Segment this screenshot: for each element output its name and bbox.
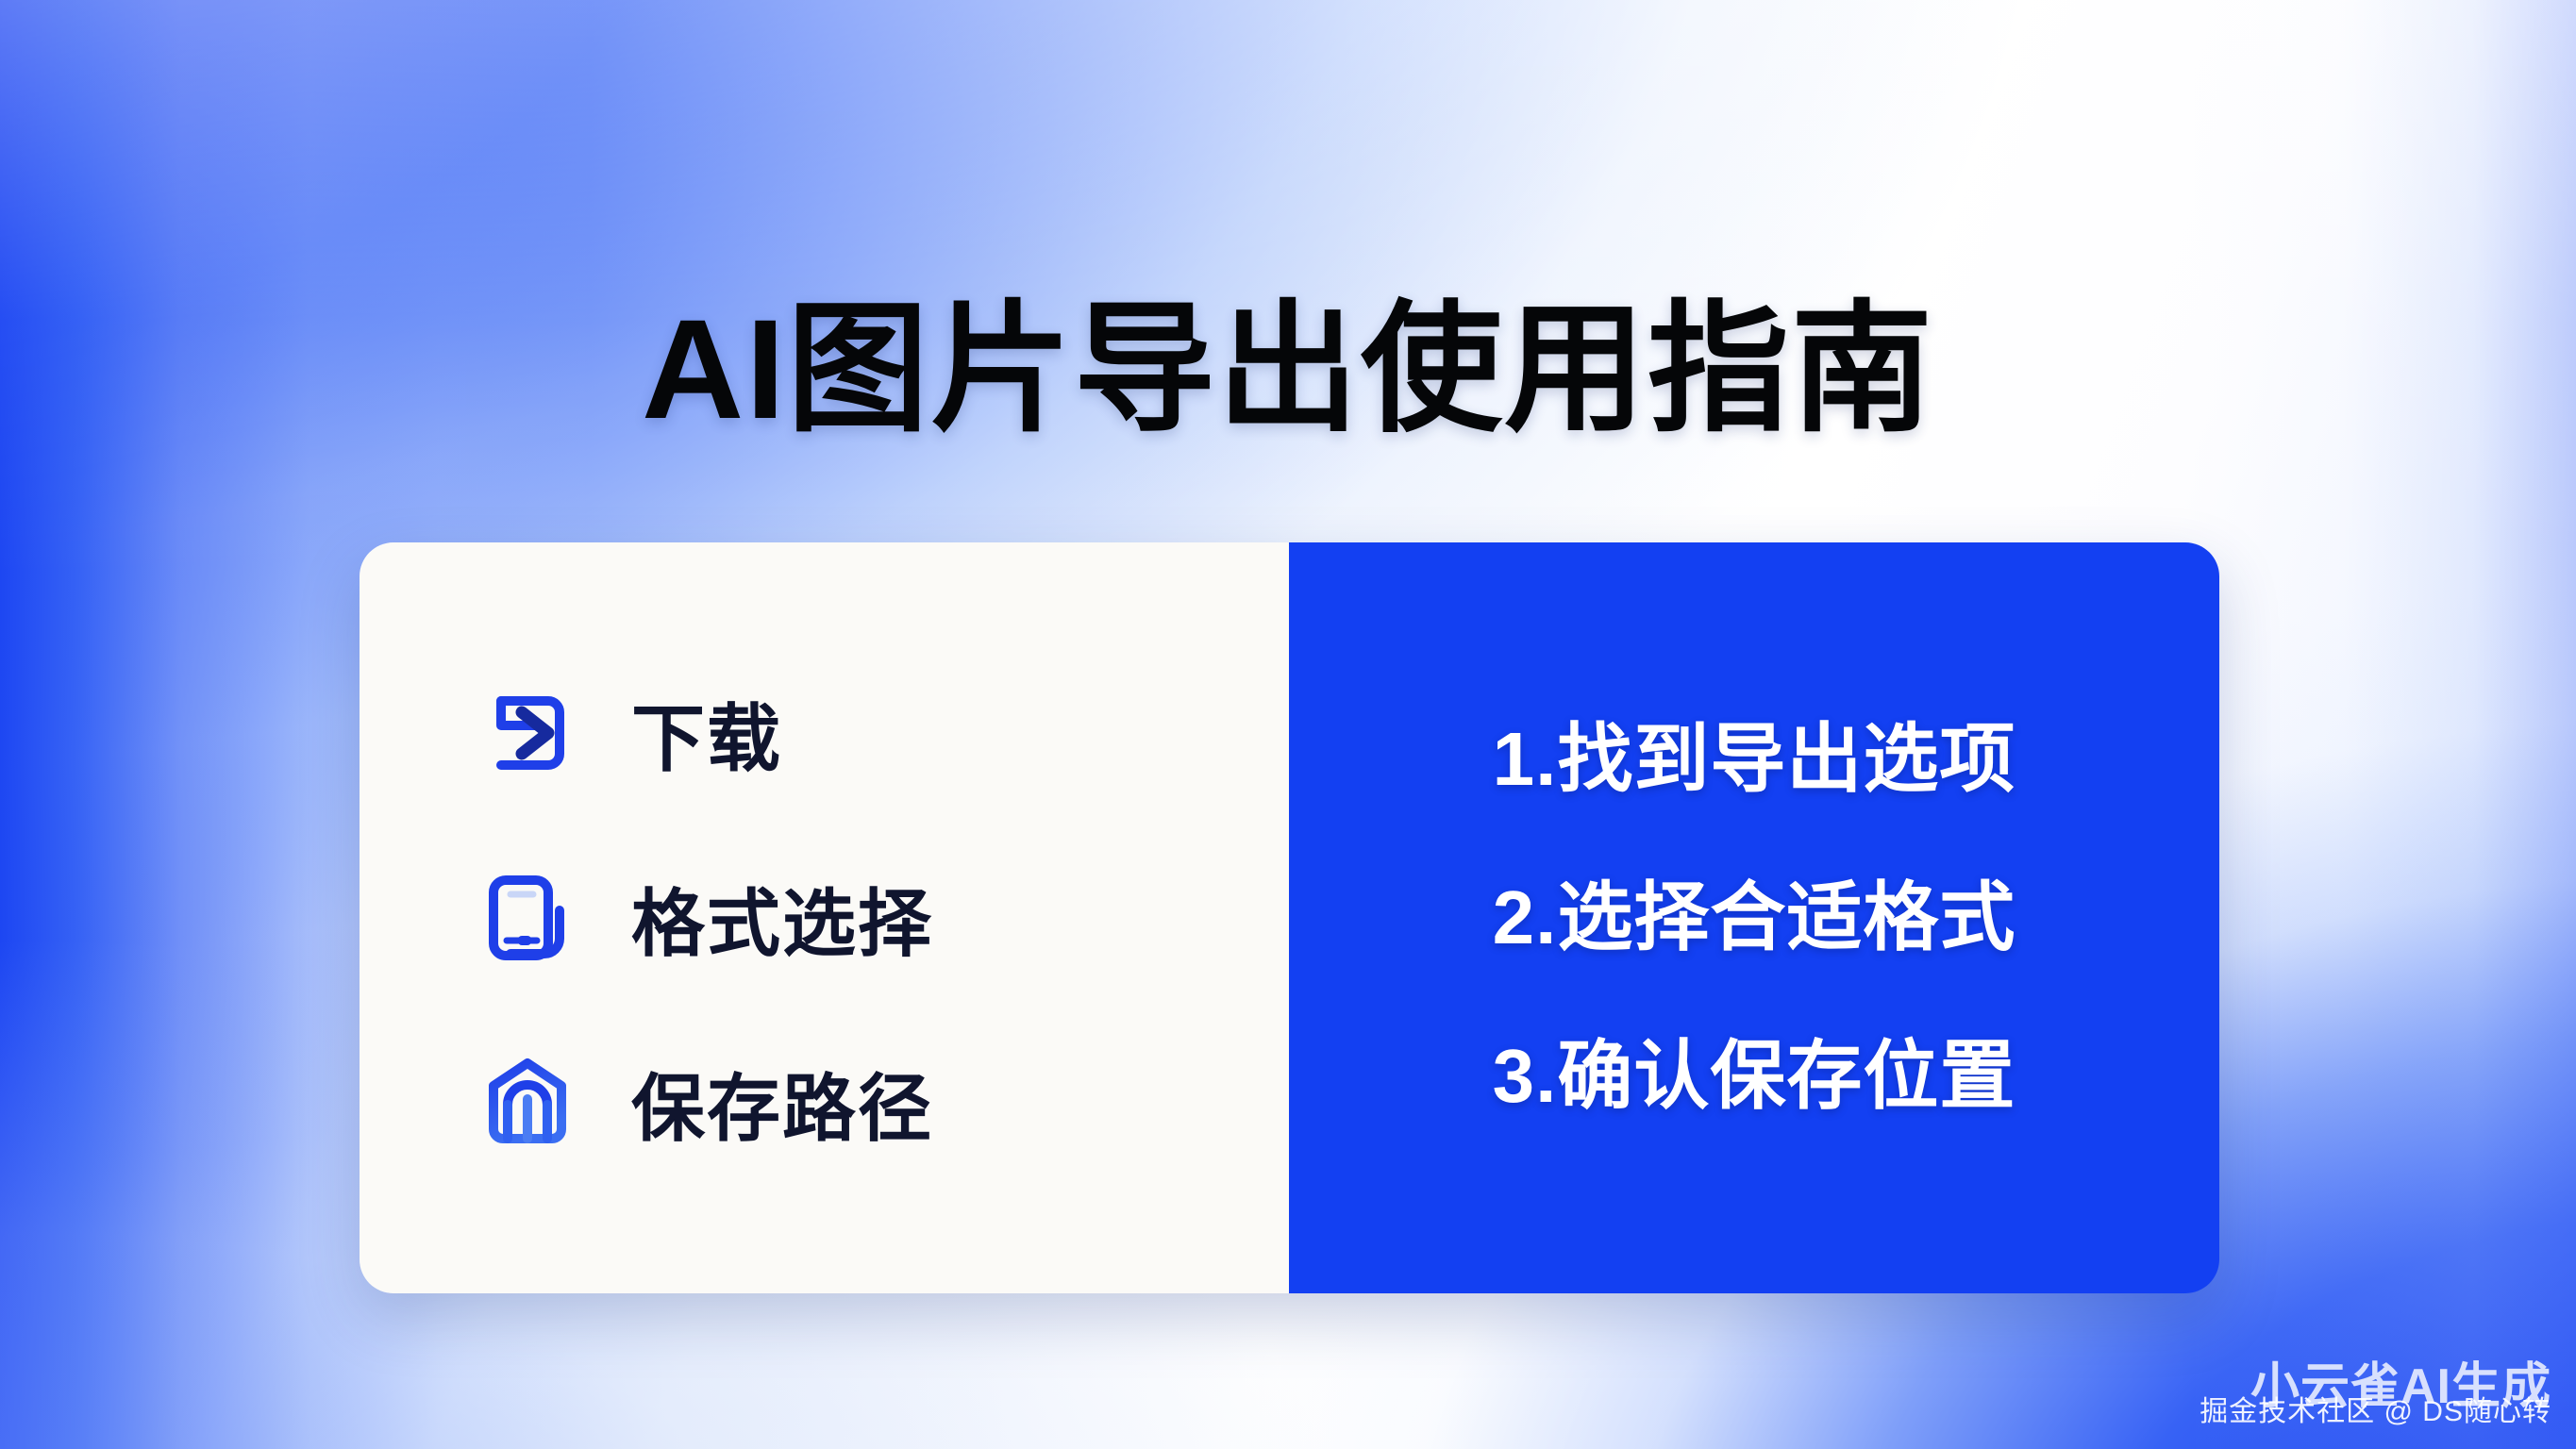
page-title: AI图片导出使用指南 [0, 295, 2576, 442]
feature-label: 保存路径 [631, 1050, 933, 1156]
steps-panel: 1.找到导出选项 2.选择合适格式 3.确认保存位置 [1289, 542, 2219, 1293]
feature-panel: 下载 格式选择 [360, 542, 1289, 1293]
device-format-icon [478, 869, 577, 967]
guide-card: 下载 格式选择 [360, 542, 2219, 1293]
watermark-source: 掘金技术社区 @ DS随心转 [2200, 1398, 2551, 1426]
feature-row-format[interactable]: 格式选择 [478, 862, 1289, 974]
poster-canvas: AI图片导出使用指南 下载 [0, 0, 2576, 1449]
home-save-path-icon [478, 1054, 577, 1152]
feature-label: 下载 [631, 680, 782, 786]
step-item: 3.确认保存位置 [1493, 1037, 2016, 1116]
feature-row-download[interactable]: 下载 [478, 677, 1289, 789]
export-arrow-icon [478, 684, 577, 782]
watermark: 小云雀AI生成 掘金技术社区 @ DS随心转 [2200, 1362, 2551, 1426]
feature-row-save-path[interactable]: 保存路径 [478, 1047, 1289, 1158]
step-item: 1.找到导出选项 [1493, 720, 2016, 799]
step-item: 2.选择合适格式 [1493, 878, 2016, 958]
feature-label: 格式选择 [631, 865, 933, 971]
